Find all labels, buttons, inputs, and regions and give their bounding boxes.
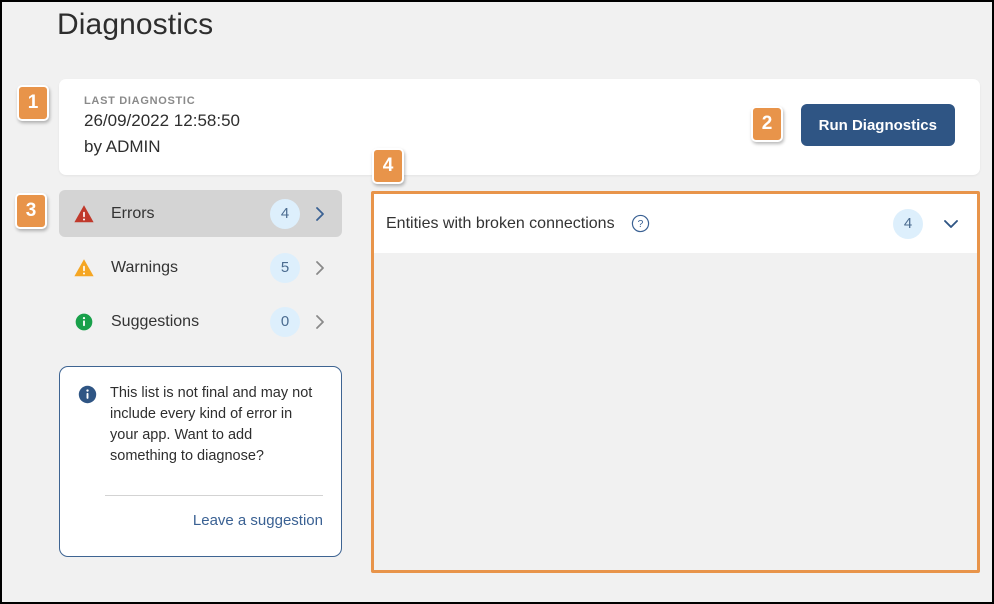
chevron-right-icon[interactable] — [312, 206, 328, 222]
chevron-down-icon[interactable] — [941, 214, 961, 234]
step-marker-1: 1 — [17, 85, 49, 121]
error-triangle-icon — [73, 203, 95, 225]
info-circle-icon — [73, 311, 95, 333]
sidebar-item-label: Suggestions — [111, 313, 270, 331]
divider — [105, 495, 323, 496]
panel-count-badge: 4 — [893, 209, 923, 239]
diagnostics-screen: Diagnostics 1 2 3 4 LAST DIAGNOSTIC 26/0… — [0, 0, 994, 604]
disclaimer-content: This list is not final and may not inclu… — [78, 383, 323, 467]
disclaimer-card: This list is not final and may not inclu… — [59, 366, 342, 557]
panel-title: Entities with broken connections — [386, 215, 615, 233]
sidebar-item-errors[interactable]: Errors 4 — [59, 190, 342, 237]
last-diagnostic-label: LAST DIAGNOSTIC — [84, 95, 195, 107]
run-diagnostics-button[interactable]: Run Diagnostics — [801, 104, 955, 146]
warning-triangle-icon — [73, 257, 95, 279]
svg-text:?: ? — [637, 219, 643, 230]
sidebar-item-label: Warnings — [111, 259, 270, 277]
last-diagnostic-author: by ADMIN — [84, 137, 161, 157]
step-marker-3: 3 — [15, 193, 47, 229]
step-marker-4: 4 — [372, 148, 404, 184]
panel-header[interactable]: Entities with broken connections ? 4 — [374, 194, 977, 253]
last-diagnostic-card: LAST DIAGNOSTIC 26/09/2022 12:58:50 by A… — [59, 79, 980, 175]
suggestions-count-badge: 0 — [270, 307, 300, 337]
warnings-count-badge: 5 — [270, 253, 300, 283]
chevron-right-icon[interactable] — [312, 260, 328, 276]
errors-count-badge: 4 — [270, 199, 300, 229]
info-circle-icon — [78, 385, 97, 404]
broken-connections-panel: Entities with broken connections ? 4 — [371, 191, 980, 573]
last-diagnostic-datetime: 26/09/2022 12:58:50 — [84, 111, 240, 131]
sidebar-item-label: Errors — [111, 205, 270, 223]
chevron-right-icon[interactable] — [312, 314, 328, 330]
question-circle-icon[interactable]: ? — [631, 214, 650, 233]
step-marker-2: 2 — [751, 106, 783, 142]
disclaimer-text: This list is not final and may not inclu… — [110, 383, 323, 467]
diagnostics-category-list: Errors 4 Warnings 5 — [59, 190, 342, 352]
panel-body — [374, 253, 977, 570]
sidebar-item-warnings[interactable]: Warnings 5 — [59, 244, 342, 291]
sidebar-item-suggestions[interactable]: Suggestions 0 — [59, 298, 342, 345]
leave-a-suggestion-link[interactable]: Leave a suggestion — [193, 512, 323, 529]
page-title: Diagnostics — [57, 8, 213, 42]
